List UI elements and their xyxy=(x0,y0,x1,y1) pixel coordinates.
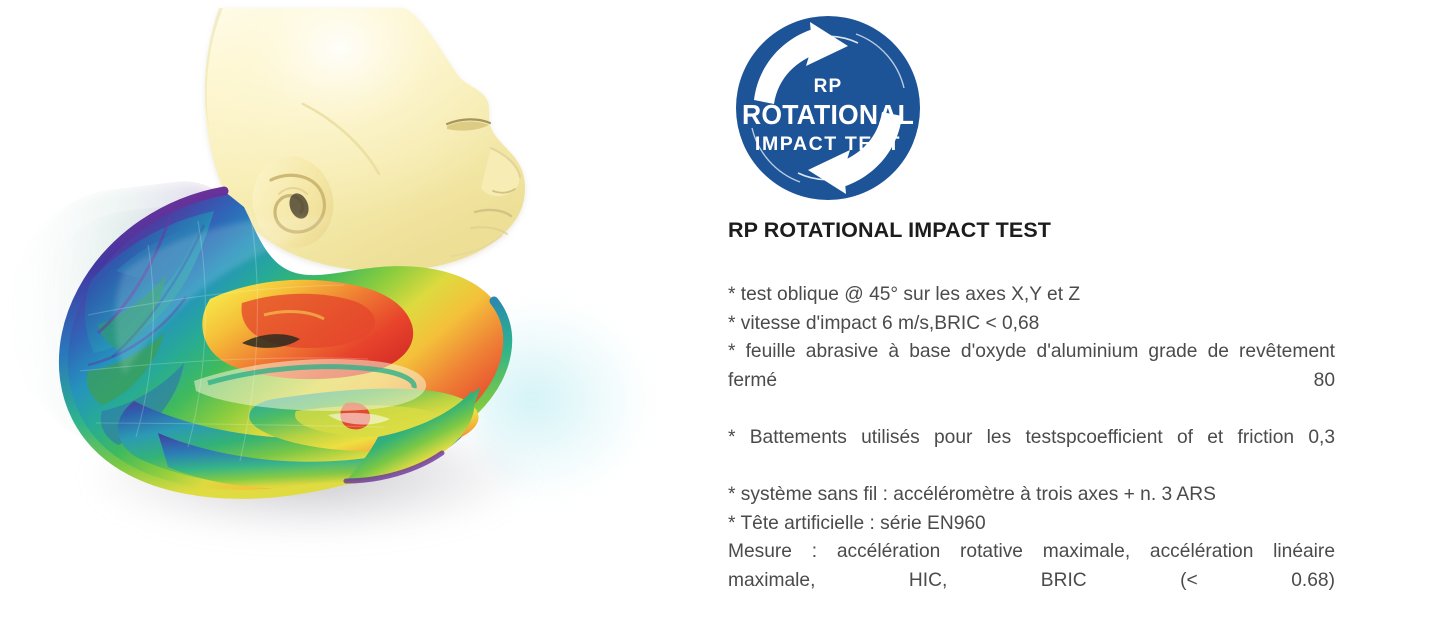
fea-figure-panel xyxy=(0,0,720,581)
spec-line: * test oblique @ 45° sur les axes X,Y et… xyxy=(728,281,1335,310)
page-root: RP ROTATIONAL IMPACT TEST RP ROTATIONAL … xyxy=(0,0,1445,581)
spec-line: * feuille abrasive à base d'oxyde d'alum… xyxy=(728,338,1335,424)
spec-line: Mesure : accélération rotative maximale,… xyxy=(728,538,1335,624)
logo-text-rotational: ROTATIONAL xyxy=(742,99,914,130)
spec-line: * système sans fil : accéléromètre à tro… xyxy=(728,481,1335,510)
rp-rotational-impact-test-logo: RP ROTATIONAL IMPACT TEST xyxy=(736,16,920,200)
fea-simulation-image xyxy=(0,0,720,581)
logo-text-rp: RP xyxy=(814,76,843,97)
spec-line: * vitesse d'impact 6 m/s,BRIC < 0,68 xyxy=(728,310,1335,339)
spec-line: * Tête artificielle : série EN960 xyxy=(728,510,1335,539)
logo-text-impact-test: IMPACT TEST xyxy=(755,133,901,155)
helmet-stress-map xyxy=(28,175,588,505)
content-panel: RP ROTATIONAL IMPACT TEST RP ROTATIONAL … xyxy=(728,0,1348,581)
spec-list: * test oblique @ 45° sur les axes X,Y et… xyxy=(728,281,1335,624)
section-title: RP ROTATIONAL IMPACT TEST xyxy=(728,218,1338,243)
spec-line: * Battements utilisés pour les testspcoe… xyxy=(728,424,1335,481)
